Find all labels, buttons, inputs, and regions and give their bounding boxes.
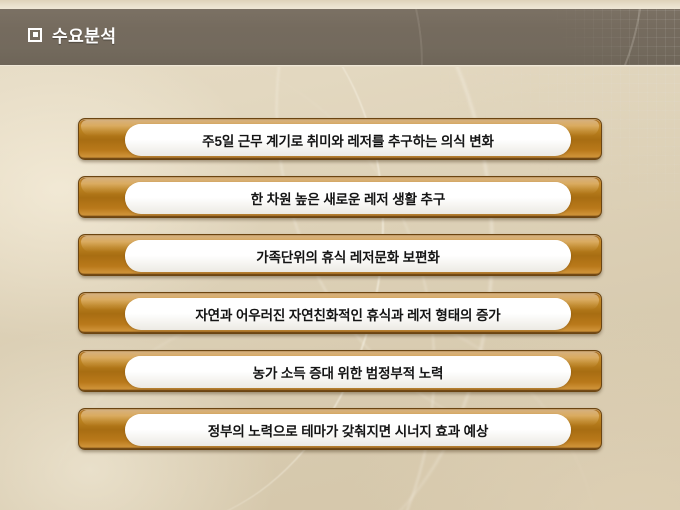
- filled-square-bullet-icon: [28, 28, 42, 42]
- list-item[interactable]: 자연과 어우러진 자연친화적인 휴식과 레저 형태의 증가: [78, 292, 602, 334]
- list-item-label: 자연과 어우러진 자연친화적인 휴식과 레저 형태의 증가: [195, 304, 500, 324]
- list-item[interactable]: 주5일 근무 계기로 취미와 레저를 추구하는 의식 변화: [78, 118, 602, 160]
- list-item[interactable]: 정부의 노력으로 테마가 갖춰지면 시너지 효과 예상: [78, 408, 602, 450]
- list-item-label: 주5일 근무 계기로 취미와 레저를 추구하는 의식 변화: [202, 130, 494, 150]
- presentation-slide: 수요분석 주5일 근무 계기로 취미와 레저를 추구하는 의식 변화 한 차원 …: [0, 0, 680, 510]
- page-title-label: 수요분석: [52, 22, 117, 47]
- list-item[interactable]: 가족단위의 휴식 레저문화 보편화: [78, 234, 602, 276]
- list-item-label: 농가 소득 증대 위한 범정부적 노력: [253, 362, 444, 382]
- header-swoosh-curve: [95, 9, 447, 65]
- list-item-label: 가족단위의 휴식 레저문화 보편화: [256, 246, 439, 266]
- list-item-pill: 자연과 어우러진 자연친화적인 휴식과 레저 형태의 증가: [125, 298, 571, 330]
- top-edge-strip: [0, 0, 680, 9]
- header-divider-line: [0, 65, 680, 67]
- list-item-label: 한 차원 높은 새로운 레저 생활 추구: [251, 188, 445, 208]
- list-item-pill: 한 차원 높은 새로운 레저 생활 추구: [125, 182, 571, 214]
- bullet-bar-list: 주5일 근무 계기로 취미와 레저를 추구하는 의식 변화 한 차원 높은 새로…: [78, 118, 602, 466]
- list-item[interactable]: 농가 소득 증대 위한 범정부적 노력: [78, 350, 602, 392]
- page-title: 수요분석: [28, 22, 117, 47]
- list-item-label: 정부의 노력으로 테마가 갖춰지면 시너지 효과 예상: [208, 420, 489, 440]
- list-item-pill: 가족단위의 휴식 레저문화 보편화: [125, 240, 571, 272]
- list-item[interactable]: 한 차원 높은 새로운 레저 생활 추구: [78, 176, 602, 218]
- list-item-pill: 정부의 노력으로 테마가 갖춰지면 시너지 효과 예상: [125, 414, 571, 446]
- list-item-pill: 주5일 근무 계기로 취미와 레저를 추구하는 의식 변화: [125, 124, 571, 156]
- list-item-pill: 농가 소득 증대 위한 범정부적 노력: [125, 356, 571, 388]
- header-mosaic-texture: [530, 9, 680, 65]
